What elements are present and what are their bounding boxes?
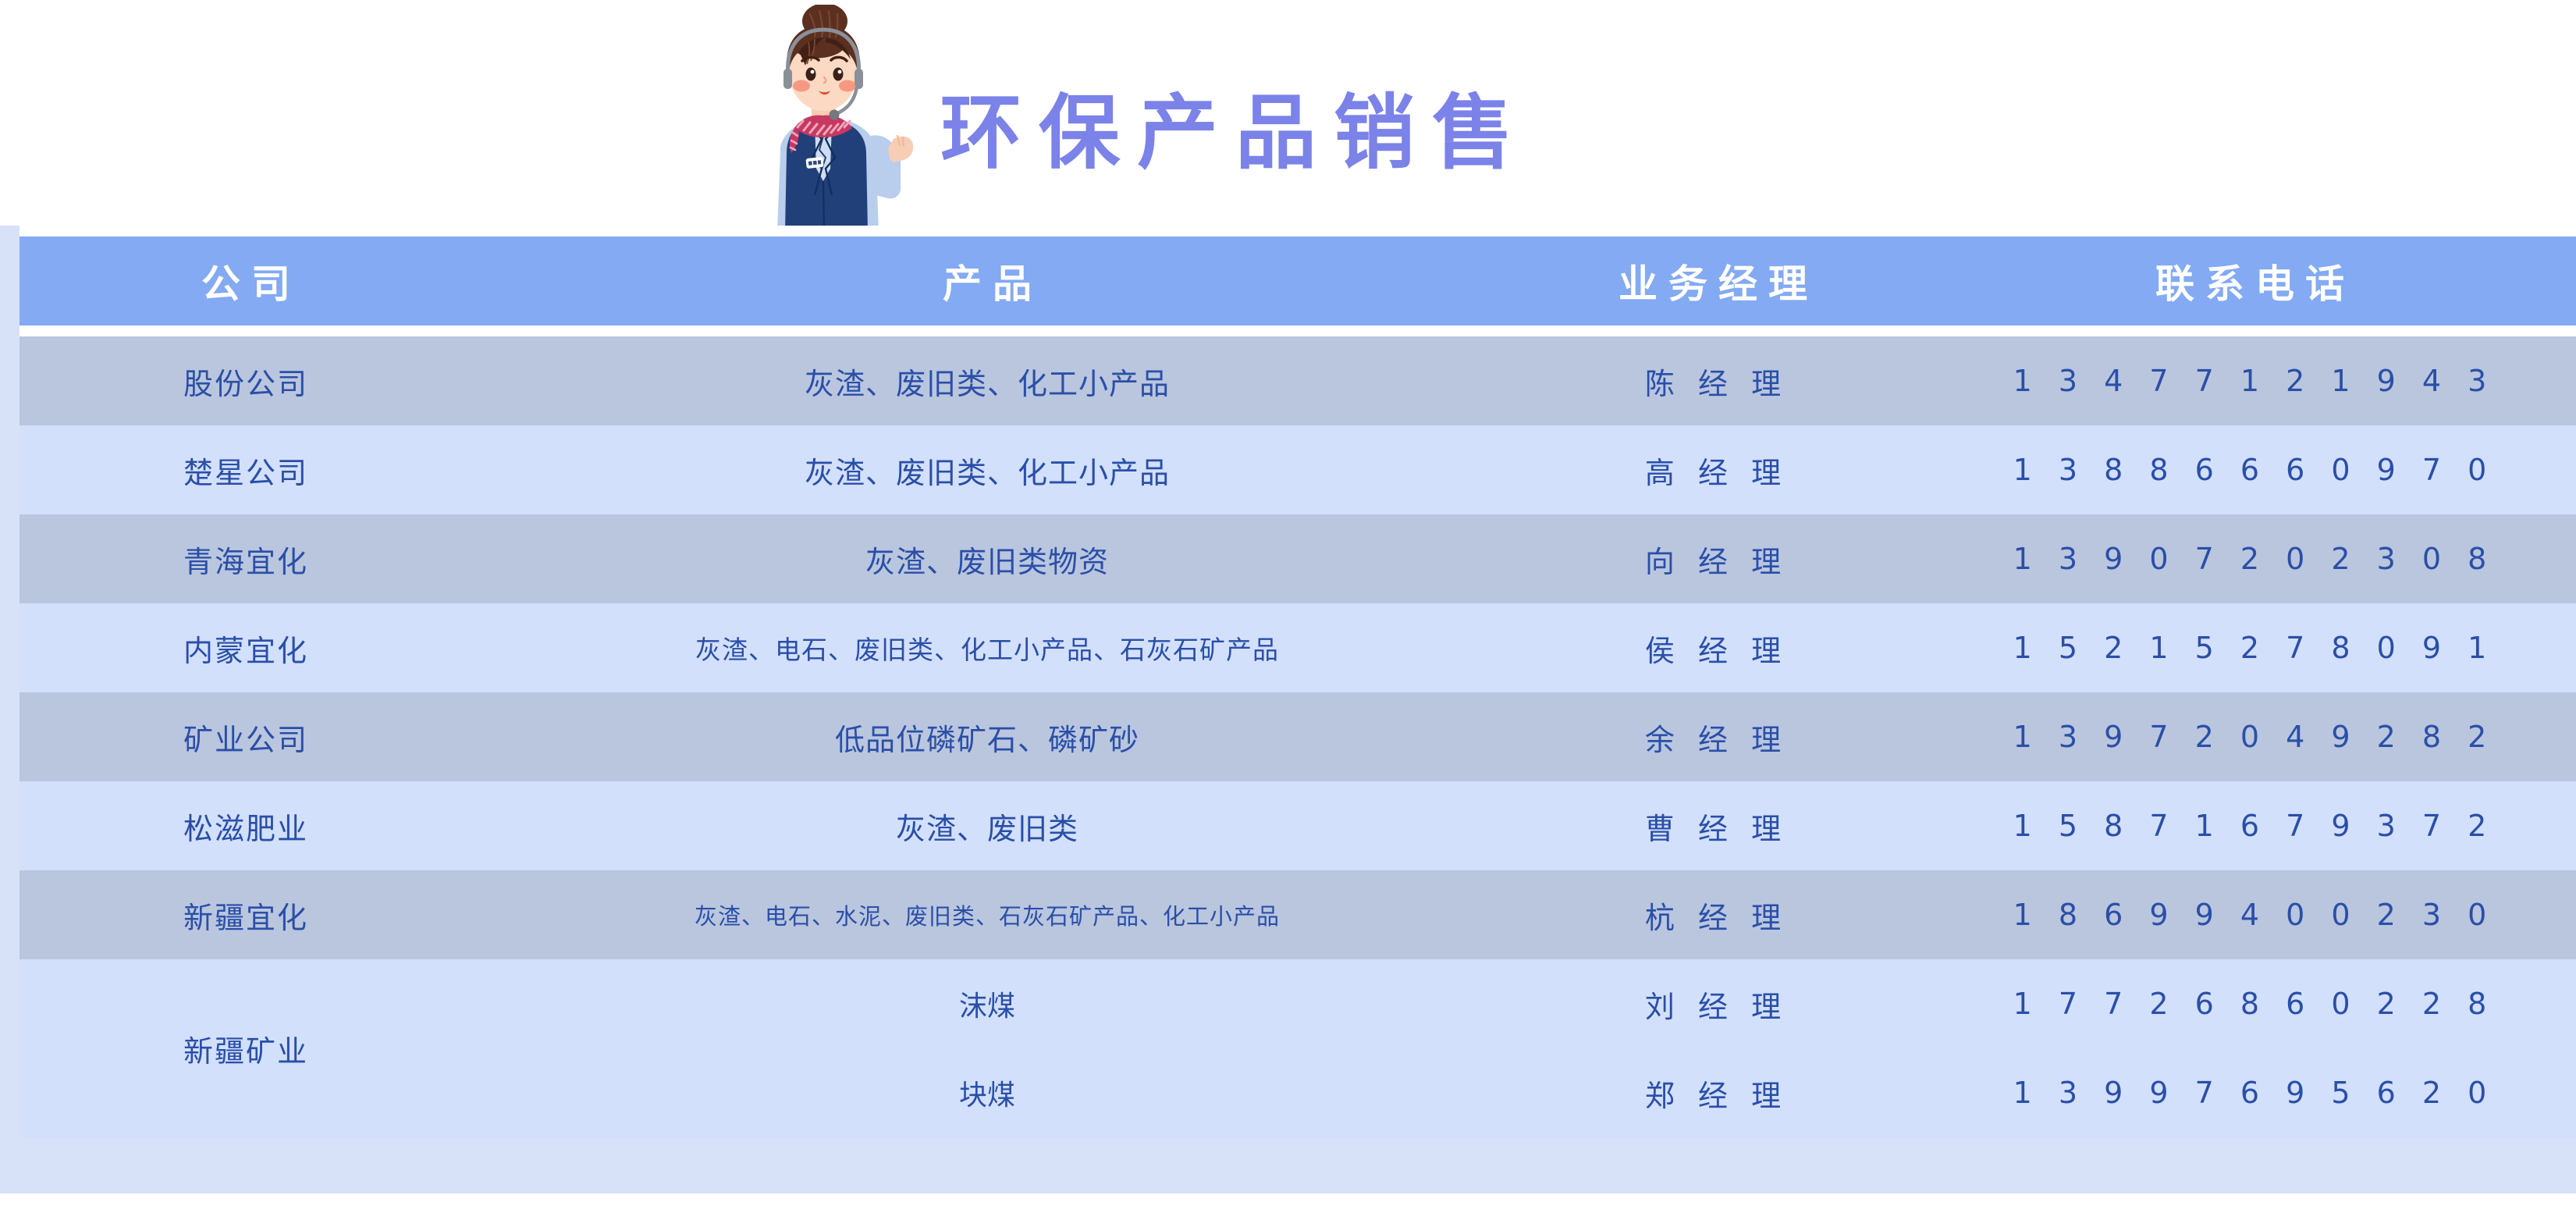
cell-product: 灰渣、废旧类、化工小产品 [472, 336, 1502, 425]
cell-phone: 1 5 2 1 5 2 7 8 0 9 1 [1924, 603, 2576, 692]
cell-phone: 1 5 8 7 1 6 7 9 3 7 2 [1924, 781, 2576, 870]
column-header-phone: 联系电话 [1924, 237, 2576, 325]
cell-phone: 1 7 7 2 6 8 6 0 2 2 8 [1924, 959, 2576, 1048]
table-row-merged: 新疆矿业 沫煤 块煤 刘 经 理 郑 经 理 1 7 7 2 6 8 6 0 2… [20, 959, 2576, 1137]
table-row: 矿业公司 低品位磷矿石、磷矿砂 余 经 理 1 3 9 7 2 0 4 9 2 … [20, 692, 2576, 781]
column-header-manager: 业务经理 [1502, 237, 1924, 325]
page-bottom-margin [0, 1193, 2576, 1213]
table-body: 公司 产品 业务经理 联系电话 股份公司 灰渣、废旧类、化工小产品 陈 经 理 … [20, 226, 2576, 1193]
table-row: 楚星公司 灰渣、废旧类、化工小产品 高 经 理 1 3 8 8 6 6 6 0 … [20, 425, 2576, 514]
table-header-gap [20, 325, 2576, 336]
table-header-row: 公司 产品 业务经理 联系电话 [20, 237, 2576, 325]
cell-manager: 曹 经 理 [1502, 781, 1924, 870]
customer-service-agent-icon [734, 5, 913, 237]
cell-phone: 1 3 4 7 7 1 2 1 9 4 3 [1924, 336, 2576, 425]
cell-product: 低品位磷矿石、磷矿砂 [472, 692, 1502, 781]
cell-phone: 1 3 9 7 2 0 4 9 2 8 2 [1924, 692, 2576, 781]
cell-manager: 侯 经 理 [1502, 603, 1924, 692]
cell-product: 灰渣、电石、废旧类、化工小产品、石灰石矿产品 [472, 603, 1502, 692]
cell-manager-group: 刘 经 理 郑 经 理 [1502, 959, 1924, 1137]
cell-manager: 向 经 理 [1502, 514, 1924, 603]
cell-phone-group: 1 7 7 2 6 8 6 0 2 2 8 1 3 9 9 7 6 9 5 6 … [1924, 959, 2576, 1137]
title-banner: 环保产品销售 [0, 0, 2576, 234]
cell-product: 灰渣、电石、水泥、废旧类、石灰石矿产品、化工小产品 [472, 870, 1502, 959]
table-row: 青海宜化 灰渣、废旧类物资 向 经 理 1 3 9 0 7 2 0 2 3 0 … [20, 514, 2576, 603]
table-row: 股份公司 灰渣、废旧类、化工小产品 陈 经 理 1 3 4 7 7 1 2 1 … [20, 336, 2576, 425]
cell-phone: 1 8 6 9 9 4 0 0 2 3 0 [1924, 870, 2576, 959]
cell-company: 内蒙宜化 [20, 603, 472, 692]
cell-product: 沫煤 [472, 959, 1502, 1048]
cell-phone: 1 3 8 8 6 6 6 0 9 7 0 [1924, 425, 2576, 514]
cell-manager: 杭 经 理 [1502, 870, 1924, 959]
cell-company-merged: 新疆矿业 [20, 959, 472, 1137]
cell-manager: 高 经 理 [1502, 425, 1924, 514]
page-title: 环保产品销售 [940, 92, 1530, 173]
cell-product: 灰渣、废旧类、化工小产品 [472, 425, 1502, 514]
cell-manager: 陈 经 理 [1502, 336, 1924, 425]
cell-company: 股份公司 [20, 336, 472, 425]
cell-company: 新疆宜化 [20, 870, 472, 959]
cell-manager: 郑 经 理 [1502, 1048, 1924, 1137]
cell-product: 灰渣、废旧类 [472, 781, 1502, 870]
cell-company: 矿业公司 [20, 692, 472, 781]
cell-phone: 1 3 9 0 7 2 0 2 3 0 8 [1924, 514, 2576, 603]
cell-phone: 1 3 9 9 7 6 9 5 6 2 0 [1924, 1048, 2576, 1137]
table-row: 松滋肥业 灰渣、废旧类 曹 经 理 1 5 8 7 1 6 7 9 3 7 2 [20, 781, 2576, 870]
sales-contact-table: 公司 产品 业务经理 联系电话 股份公司 灰渣、废旧类、化工小产品 陈 经 理 … [0, 226, 2576, 1193]
cell-product: 灰渣、废旧类物资 [472, 514, 1502, 603]
page-root: 环保产品销售 公司 产品 业务经理 联系电话 股份公司 灰渣、废旧类、化工小产品… [0, 0, 2576, 1213]
cell-company: 松滋肥业 [20, 781, 472, 870]
table-row: 内蒙宜化 灰渣、电石、废旧类、化工小产品、石灰石矿产品 侯 经 理 1 5 2 … [20, 603, 2576, 692]
cell-company: 青海宜化 [20, 514, 472, 603]
cell-product-group: 沫煤 块煤 [472, 959, 1502, 1137]
table-row: 新疆宜化 灰渣、电石、水泥、废旧类、石灰石矿产品、化工小产品 杭 经 理 1 8… [20, 870, 2576, 959]
column-header-product: 产品 [472, 237, 1502, 325]
column-header-company: 公司 [20, 237, 472, 325]
cell-company: 楚星公司 [20, 425, 472, 514]
cell-manager: 余 经 理 [1502, 692, 1924, 781]
table-top-gap [20, 226, 2576, 237]
cell-product: 块煤 [472, 1048, 1502, 1137]
cell-manager: 刘 经 理 [1502, 959, 1924, 1048]
